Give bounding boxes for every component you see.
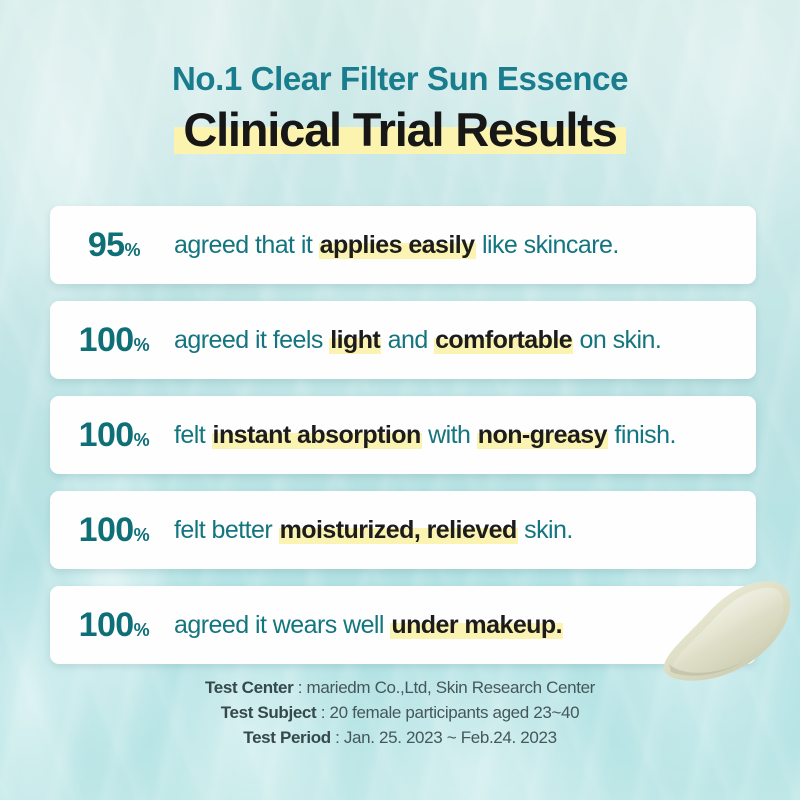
result-card: 100%agreed it feels light and comfortabl… (50, 301, 756, 379)
result-percentage: 100% (50, 418, 174, 452)
percentage-symbol: % (134, 525, 150, 545)
result-statement: felt better moisturized, relieved skin. (174, 516, 756, 545)
highlighted-phrase: non-greasy (477, 421, 608, 449)
page-title: Clinical Trial Results (174, 105, 625, 156)
footer-label: Test Center (205, 678, 293, 697)
statement-text: agreed it feels (174, 326, 329, 354)
result-card: 95%agreed that it applies easily like sk… (50, 206, 756, 284)
highlighted-phrase: moisturized, relieved (279, 516, 518, 544)
statement-text: agreed it wears well (174, 611, 390, 639)
page-title-text: Clinical Trial Results (183, 103, 616, 156)
result-statement: agreed it feels light and comfortable on… (174, 326, 756, 355)
highlighted-phrase: instant absorption (212, 421, 422, 449)
highlighted-phrase: applies easily (319, 231, 476, 259)
footer-value: mariedm Co.,Ltd, Skin Research Center (307, 678, 595, 697)
result-percentage: 100% (50, 513, 174, 547)
page-title-wrapper: Clinical Trial Results (0, 105, 800, 156)
results-list: 95%agreed that it applies easily like sk… (50, 206, 756, 681)
statement-text: and (381, 326, 434, 354)
highlighted-phrase: under makeup. (390, 611, 563, 639)
highlighted-phrase: comfortable (434, 326, 573, 354)
result-statement: agreed it wears well under makeup. (174, 611, 756, 640)
statement-text: with (422, 421, 477, 449)
highlighted-phrase: light (329, 326, 381, 354)
footer-value: Jan. 25. 2023 ~ Feb.24. 2023 (344, 728, 557, 747)
footer-separator: : (331, 728, 344, 747)
statement-text: skin. (518, 516, 573, 544)
result-statement: agreed that it applies easily like skinc… (174, 231, 756, 260)
percentage-number: 95 (88, 226, 125, 264)
percentage-symbol: % (134, 335, 150, 355)
footer-row: Test Subject : 20 female participants ag… (0, 701, 800, 726)
percentage-symbol: % (124, 240, 140, 260)
footer-separator: : (316, 703, 329, 722)
percentage-number: 100 (79, 321, 134, 359)
statement-text: finish. (608, 421, 676, 449)
percentage-number: 100 (79, 511, 134, 549)
result-card: 100%agreed it wears well under makeup. (50, 586, 756, 664)
footer-row: Test Period : Jan. 25. 2023 ~ Feb.24. 20… (0, 726, 800, 751)
statement-text: felt better (174, 516, 279, 544)
result-statement: felt instant absorption with non-greasy … (174, 421, 756, 450)
statement-text: like skincare. (476, 231, 619, 259)
infographic-stage: No.1 Clear Filter Sun Essence Clinical T… (0, 0, 800, 800)
footer-credits: Test Center : mariedm Co.,Ltd, Skin Rese… (0, 676, 800, 750)
footer-row: Test Center : mariedm Co.,Ltd, Skin Rese… (0, 676, 800, 701)
footer-value: 20 female participants aged 23~40 (329, 703, 579, 722)
percentage-number: 100 (79, 416, 134, 454)
statement-text: on skin. (573, 326, 661, 354)
footer-separator: : (293, 678, 306, 697)
result-percentage: 100% (50, 608, 174, 642)
percentage-symbol: % (134, 430, 150, 450)
percentage-number: 100 (79, 606, 134, 644)
result-percentage: 95% (50, 228, 174, 262)
statement-text: felt (174, 421, 212, 449)
result-card: 100%felt instant absorption with non-gre… (50, 396, 756, 474)
product-name-eyebrow: No.1 Clear Filter Sun Essence (0, 62, 800, 97)
result-percentage: 100% (50, 323, 174, 357)
percentage-symbol: % (134, 620, 150, 640)
footer-label: Test Period (243, 728, 330, 747)
statement-text: agreed that it (174, 231, 319, 259)
header: No.1 Clear Filter Sun Essence Clinical T… (0, 62, 800, 156)
footer-label: Test Subject (221, 703, 317, 722)
result-card: 100%felt better moisturized, relieved sk… (50, 491, 756, 569)
